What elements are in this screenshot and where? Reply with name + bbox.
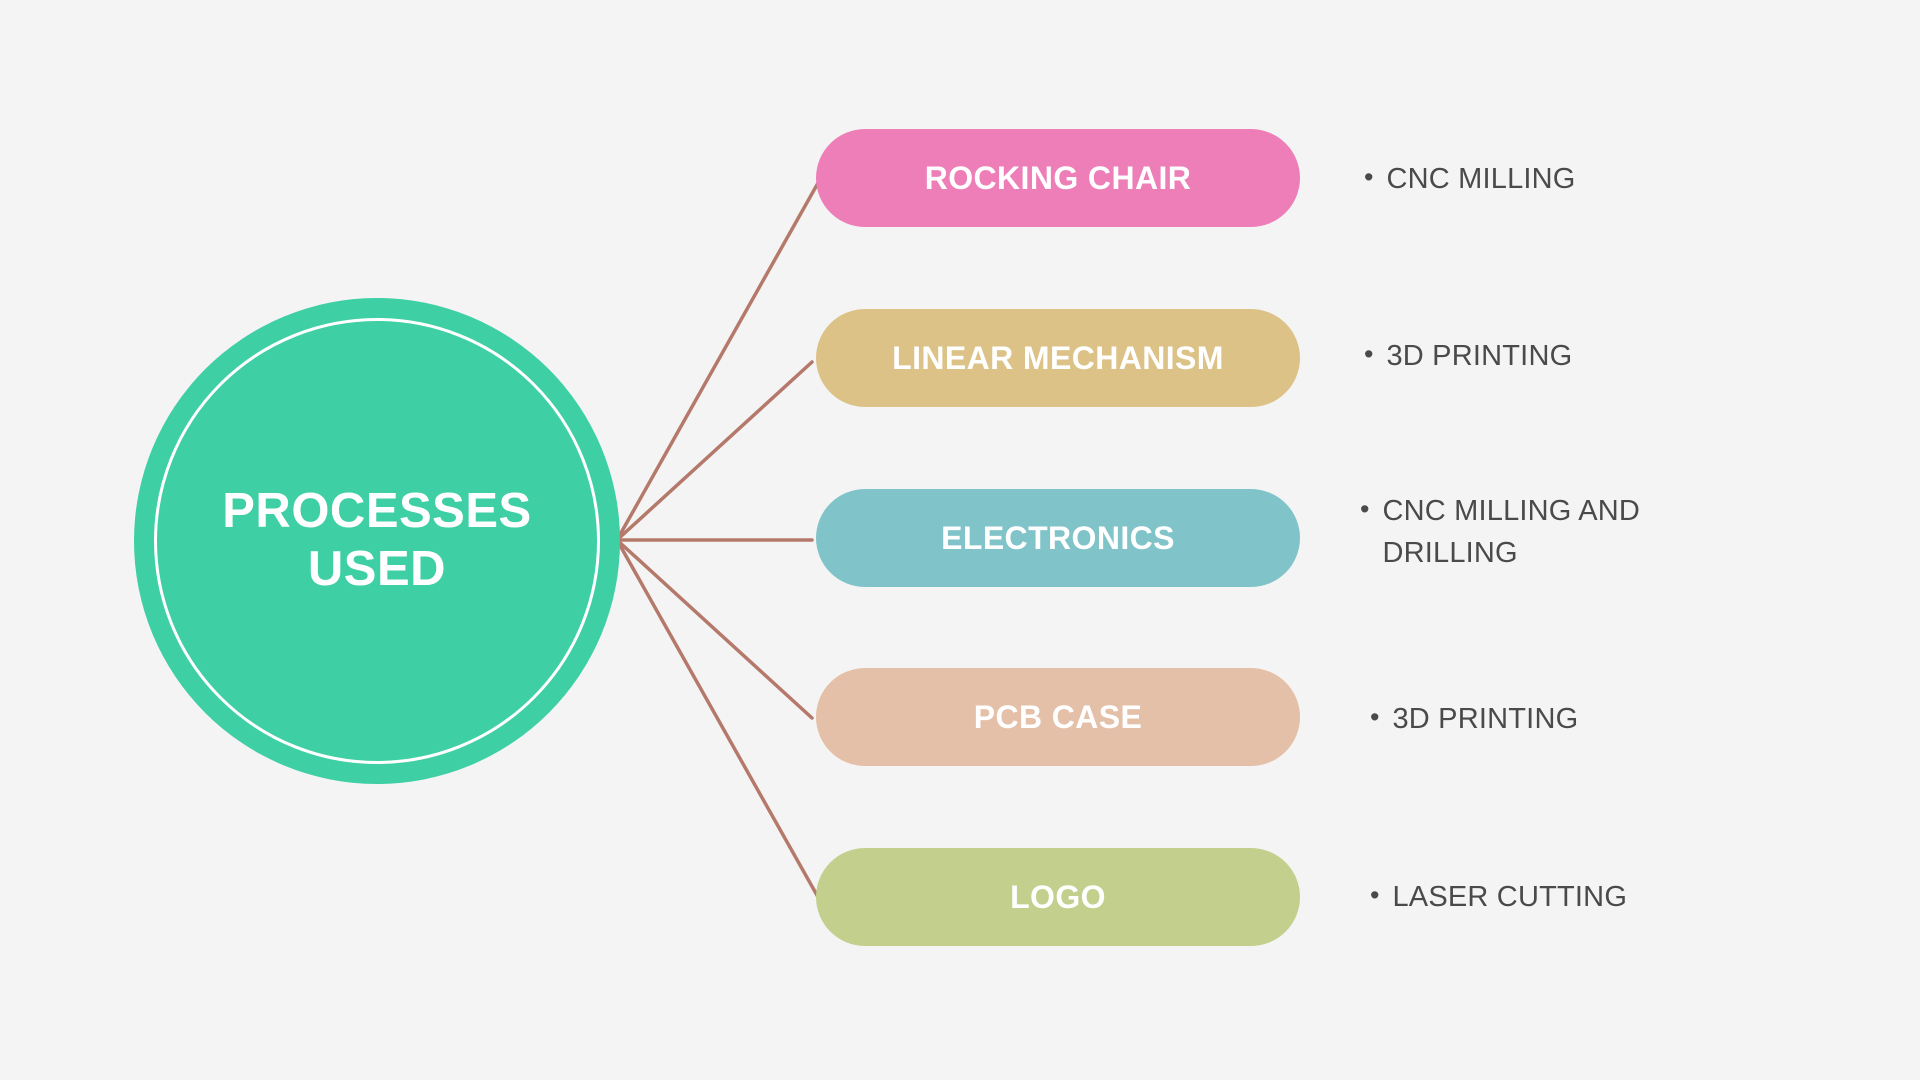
branch-pill-electronics[interactable]: ELECTRONICS [816,489,1300,587]
branch-pill-label: LOGO [1010,879,1106,916]
note-text: CNC MILLING AND DRILLING [1382,490,1682,574]
note-item-pcb-case: • 3D PRINTING [1370,698,1578,740]
note-bullet-icon: • [1364,335,1373,374]
hub-node[interactable]: PROCESSES USED [134,298,620,784]
branch-pill-rocking-chair[interactable]: ROCKING CHAIR [816,129,1300,227]
note-text: 3D PRINTING [1392,698,1578,740]
branch-pill-logo[interactable]: LOGO [816,848,1300,946]
diagram-canvas: PROCESSES USED ROCKING CHAIR LINEAR MECH… [0,0,1920,1080]
connector-line-2 [617,362,812,540]
note-bullet-icon: • [1370,698,1379,737]
note-bullet-icon: • [1360,490,1369,529]
note-item-rocking-chair: • CNC MILLING [1364,158,1576,200]
note-item-linear-mechanism: • 3D PRINTING [1364,335,1572,377]
hub-label: PROCESSES USED [222,483,531,599]
note-text: CNC MILLING [1386,158,1575,200]
branch-pill-linear-mechanism[interactable]: LINEAR MECHANISM [816,309,1300,407]
connector-line-5 [617,540,818,897]
connector-line-4 [617,540,812,718]
note-text: LASER CUTTING [1392,876,1627,918]
branch-pill-label: ROCKING CHAIR [925,160,1192,197]
note-bullet-icon: • [1370,876,1379,915]
connector-line-1 [617,183,818,540]
branch-pill-label: PCB CASE [974,699,1143,736]
note-text: 3D PRINTING [1386,335,1572,377]
note-item-logo: • LASER CUTTING [1370,876,1627,918]
branch-pill-label: ELECTRONICS [941,520,1175,557]
branch-pill-label: LINEAR MECHANISM [892,340,1224,377]
branch-pill-pcb-case[interactable]: PCB CASE [816,668,1300,766]
note-bullet-icon: • [1364,158,1373,197]
note-item-electronics: • CNC MILLING AND DRILLING [1360,490,1682,574]
